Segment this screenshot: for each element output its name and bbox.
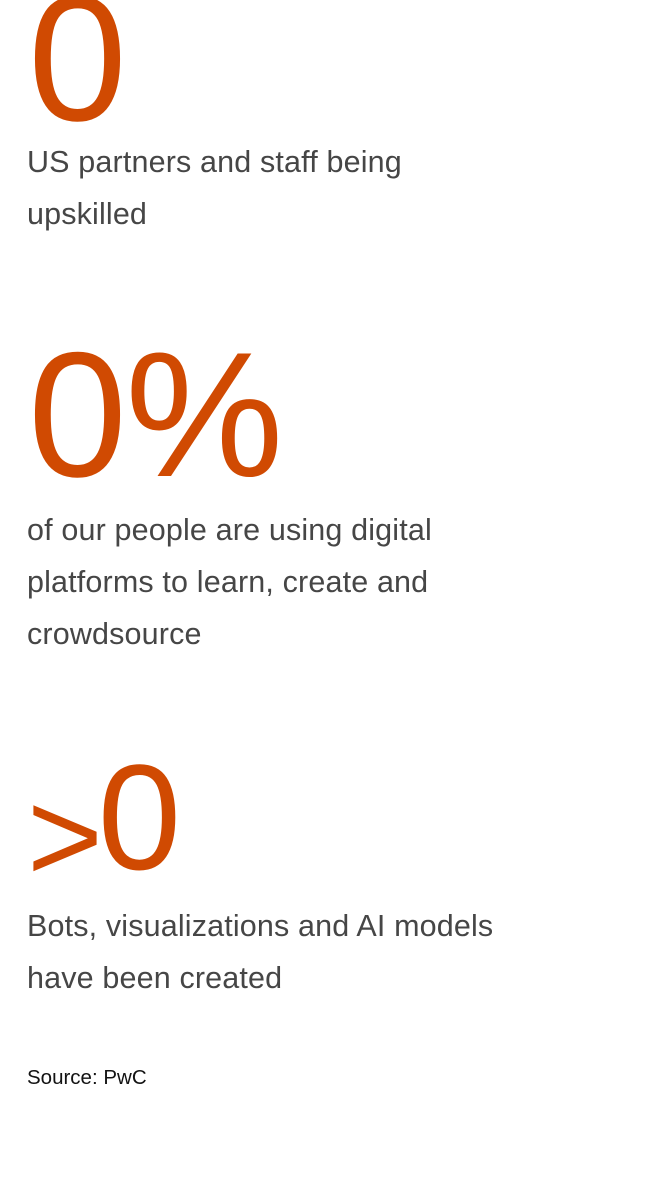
stat-1-number: 0 (28, 0, 635, 122)
stat-3-number: >0 (27, 742, 635, 872)
stat-3-caption: Bots, visualizations and AI models have … (27, 900, 527, 1004)
stats-panel: 0 US partners and staff being upskilled … (0, 0, 655, 1168)
stat-block-2: 0% of our people are using digital platf… (27, 326, 635, 660)
stat-block-1: 0 US partners and staff being upskilled (27, 0, 635, 240)
block-spacer-2 (27, 660, 635, 742)
source-line: Source: PwC (27, 1066, 635, 1090)
greater-than-symbol: > (27, 771, 98, 901)
stat-1-caption: US partners and staff being upskilled (27, 136, 527, 240)
stat-3-value: 0 (98, 733, 180, 901)
stat-2-number: 0% (28, 326, 635, 478)
block-spacer-1 (27, 240, 635, 326)
source-text: Source: PwC (27, 1066, 147, 1089)
stat-block-3: >0 Bots, visualizations and AI models ha… (27, 742, 635, 1004)
stat-2-caption: of our people are using digital platform… (27, 504, 527, 660)
